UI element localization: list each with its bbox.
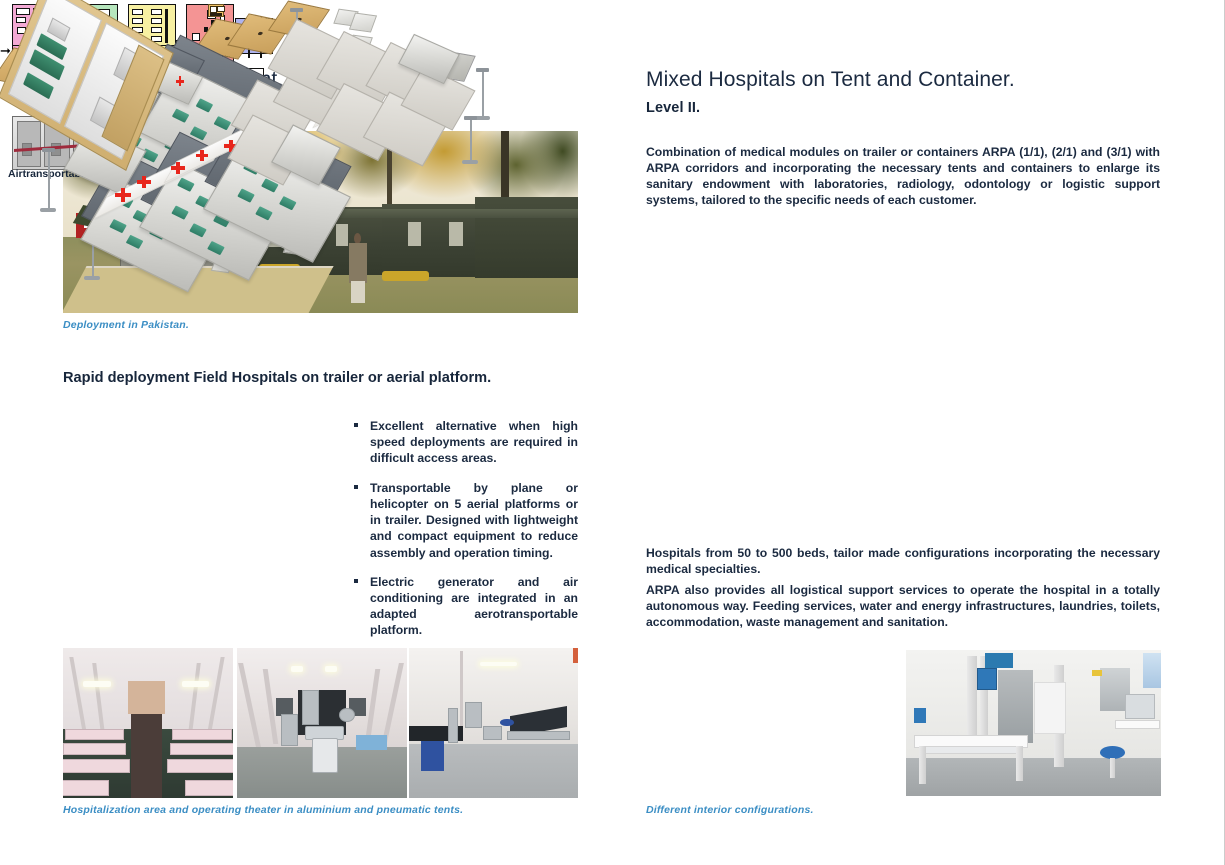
window [1143,653,1161,688]
xray-column [967,656,977,747]
xray-table-shelf [924,746,1018,754]
light-mast-head [290,8,303,12]
workstation-desk [1115,720,1160,729]
red-cross-icon [115,188,131,202]
xray-tube-head [985,653,1013,668]
right-paragraph-1: Hospitals from 50 to 500 beds, tailor ma… [646,545,1160,577]
warning-label [1092,670,1102,676]
light-mast-base [84,276,100,280]
light-mast-head [464,116,477,120]
red-cross-icon [171,162,185,174]
equipment-cabinet [998,670,1034,743]
light-mast [48,150,50,210]
table-leg [1016,746,1024,781]
green-bed [23,72,54,99]
light-mast-base [462,160,478,164]
red-cross-icon [176,76,184,86]
room-floor [906,758,1161,796]
red-cross-icon [137,176,151,188]
right-gallery-caption: Different interior configurations. [646,804,814,816]
control-box [977,668,997,690]
light-mast [482,70,484,118]
document-page: Field Hospitals on Tent. Level I [0,0,1225,865]
right-paragraph-2: ARPA also provides all logistical suppor… [646,582,1160,630]
table-leg [919,746,927,784]
red-cross-icon [196,150,208,161]
stool-post [1110,758,1115,778]
wall-panel-blue [914,708,927,723]
light-mast-head [42,148,55,152]
light-mast [470,118,472,162]
photo-radiology-room [906,650,1161,796]
service-crate [349,12,377,32]
light-mast-head [476,68,489,72]
modular-field-hospital-3d-render [0,195,515,520]
light-mast-base [40,208,56,212]
xray-panel [1034,682,1067,734]
computer-monitor [1125,694,1155,719]
